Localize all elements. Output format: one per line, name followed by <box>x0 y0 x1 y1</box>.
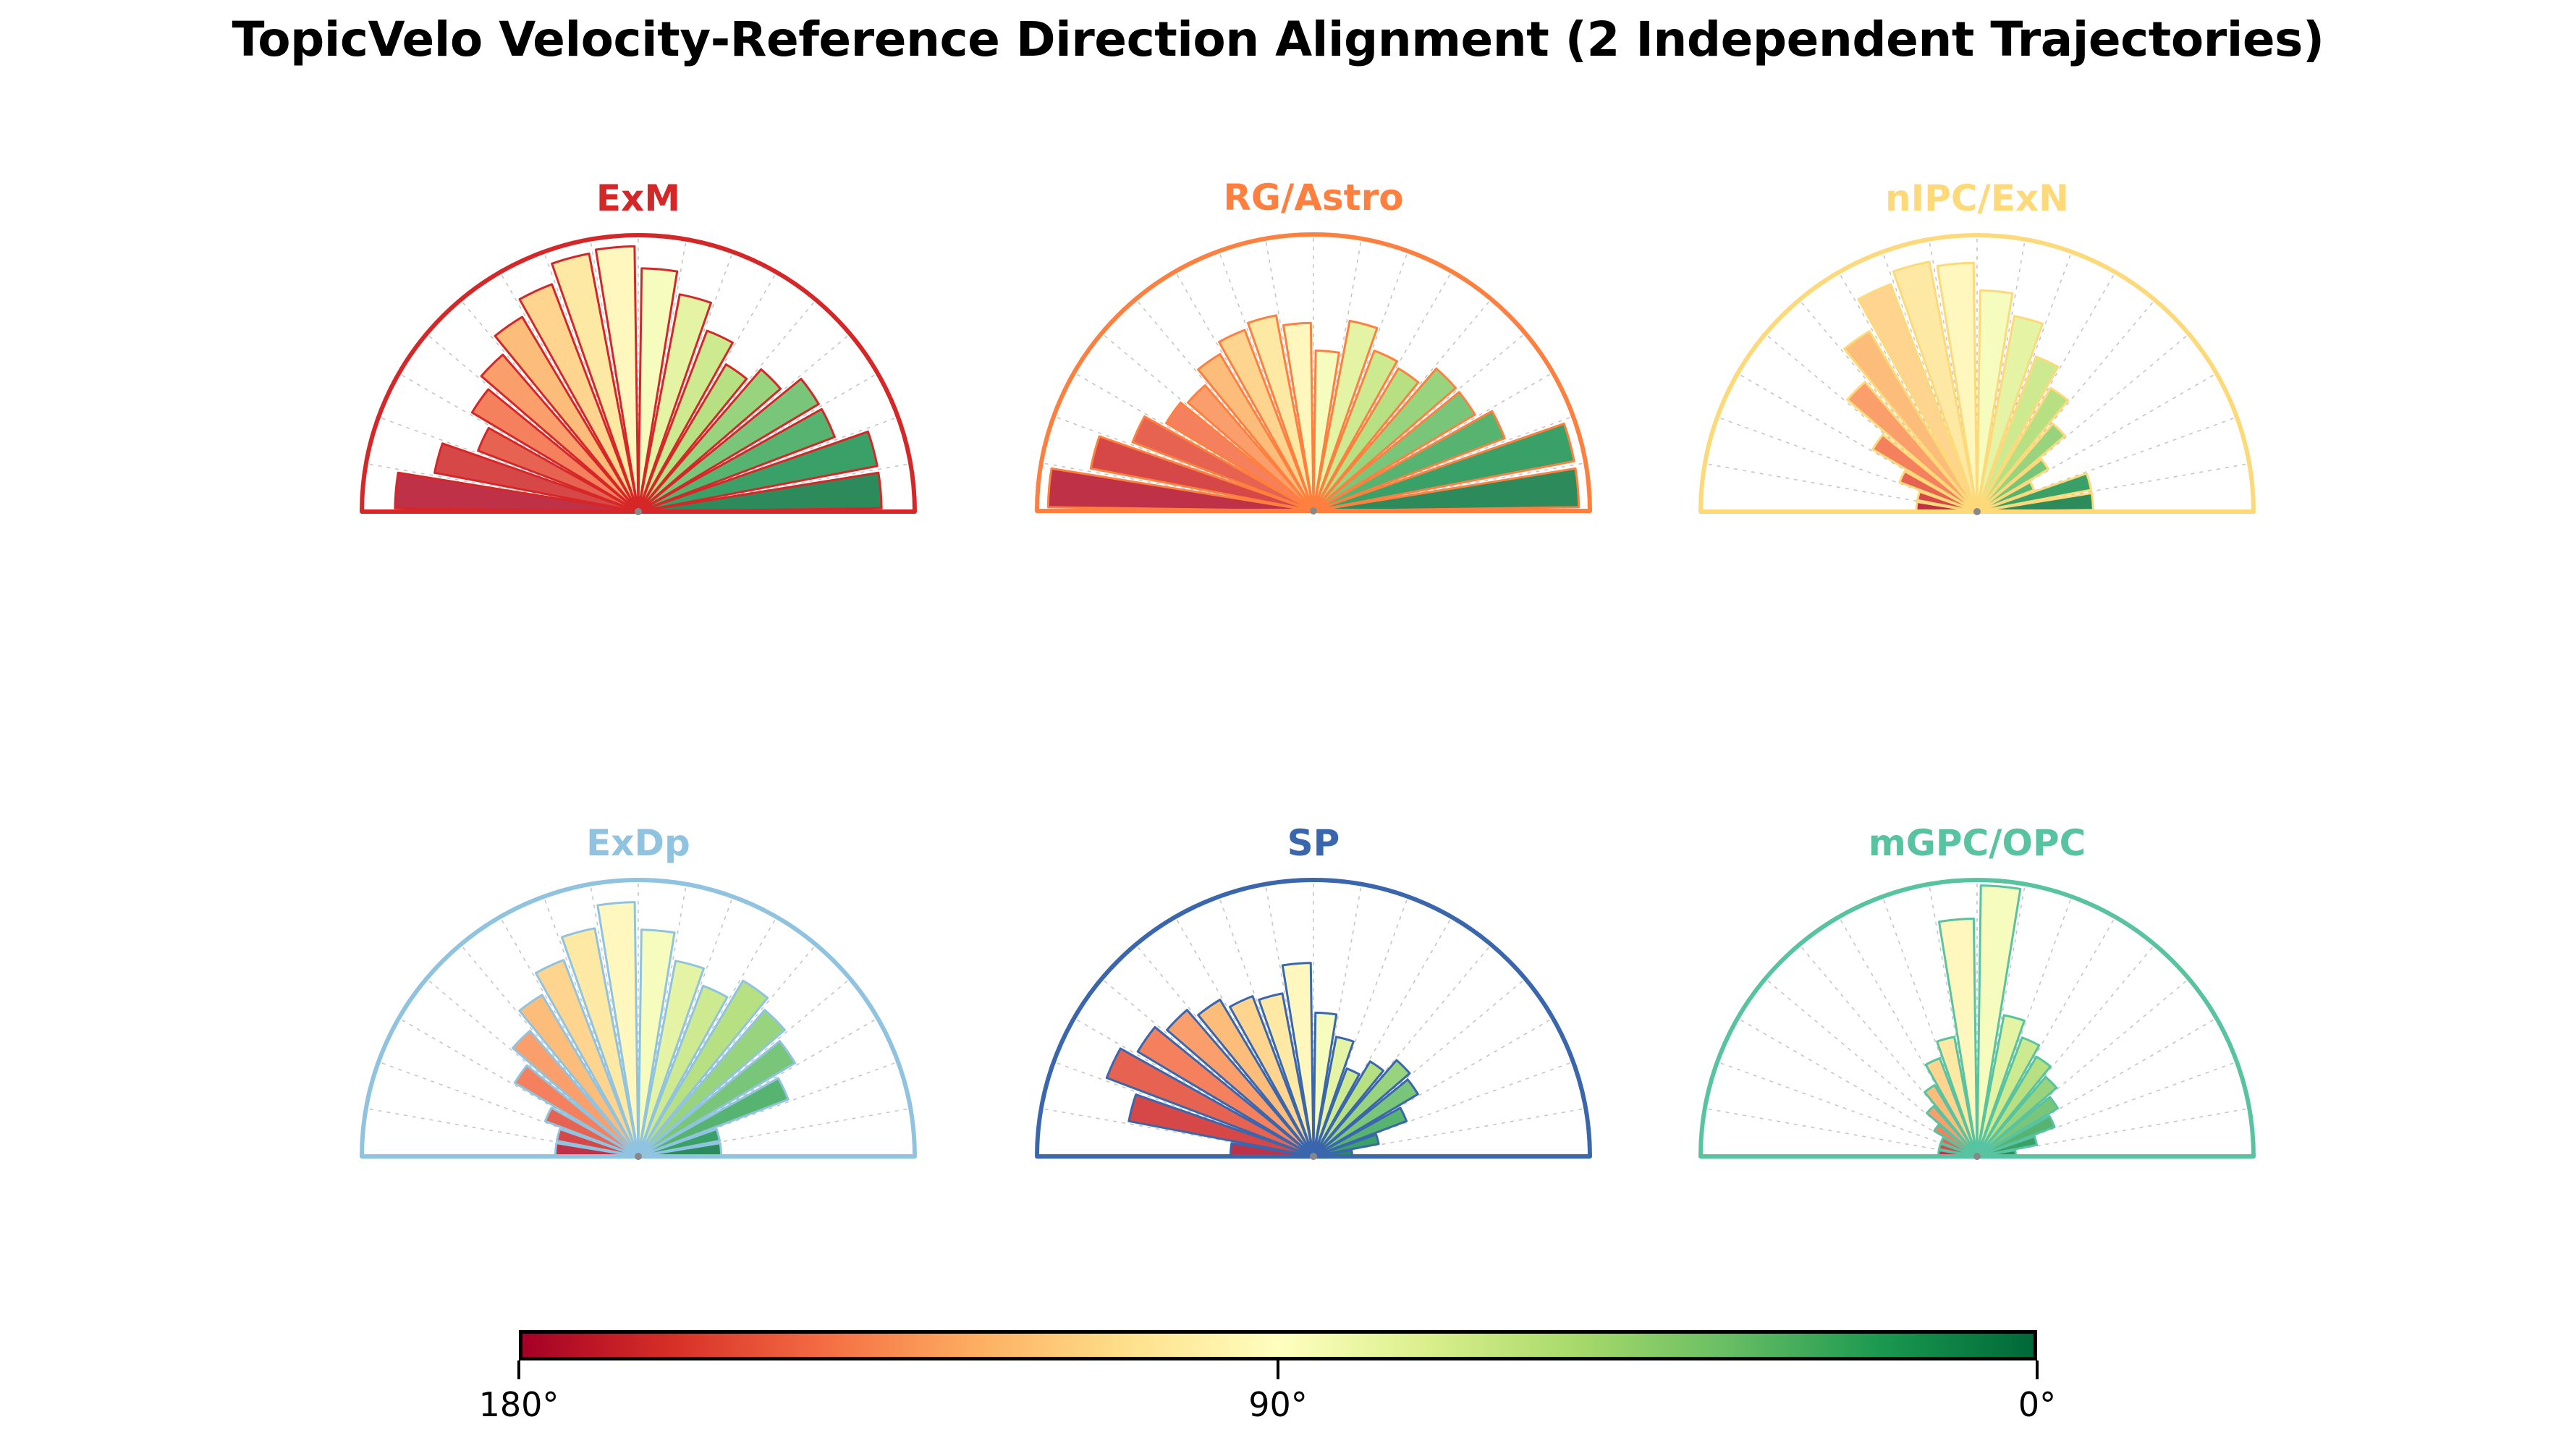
page-title: TopicVelo Velocity-Reference Direction A… <box>0 12 2556 67</box>
polar-origin-dot <box>635 1153 642 1160</box>
rose-svg <box>352 870 925 1167</box>
rose-plot <box>1027 224 1600 524</box>
colorbar-gradient <box>519 1330 2037 1360</box>
colorbar-tick-label: 180° <box>479 1385 559 1424</box>
figure-root: TopicVelo Velocity-Reference Direction A… <box>0 0 2556 1456</box>
panel-title-sp: SP <box>1027 822 1600 864</box>
rose-panel-exm: ExM <box>352 135 925 522</box>
rose-bars <box>513 902 795 1156</box>
rose-plot <box>1027 870 1600 1169</box>
rose-plot <box>1690 870 2264 1169</box>
panel-title-exm: ExM <box>352 177 925 219</box>
rose-bars <box>1106 963 1418 1156</box>
rose-svg <box>1027 224 1600 521</box>
panel-title-rg-astro: RG/Astro <box>1027 177 1600 219</box>
colorbar-tick-label: 0° <box>2018 1385 2056 1424</box>
rose-svg <box>1690 225 2264 522</box>
polar-origin-dot <box>1973 508 1981 515</box>
colorbar-tick <box>517 1360 520 1379</box>
panel-title-nipc-exn: nIPC/ExN <box>1690 177 2264 219</box>
rose-panel-sp: SP <box>1027 780 1600 1167</box>
colorbar-tick <box>2036 1360 2039 1379</box>
colorbar-tick <box>1277 1360 1279 1379</box>
colorbar-tick-label: 90° <box>1248 1385 1308 1424</box>
rose-panel-nipc-exn: nIPC/ExN <box>1690 135 2264 522</box>
panel-title-mgpc-opc: mGPC/OPC <box>1690 822 2264 864</box>
rose-plot <box>352 870 925 1169</box>
rose-panel-rg-astro: RG/Astro <box>1027 135 1600 521</box>
colorbar: 180°90°0° <box>519 1330 2037 1439</box>
rose-panel-exdp: ExDp <box>352 780 925 1167</box>
rose-panel-mgpc-opc: mGPC/OPC <box>1690 780 2264 1167</box>
polar-origin-dot <box>1310 1153 1317 1160</box>
polar-origin-dot <box>635 508 642 515</box>
rose-bars <box>1925 886 2058 1156</box>
panel-title-exdp: ExDp <box>352 822 925 864</box>
polar-origin-dot <box>1310 507 1317 515</box>
polar-origin-dot <box>1973 1153 1981 1160</box>
rose-svg <box>352 225 925 522</box>
rose-svg <box>1027 870 1600 1167</box>
rose-plot <box>352 225 925 525</box>
rose-plot <box>1690 225 2264 525</box>
rose-svg <box>1690 870 2264 1167</box>
rose-bars <box>1845 262 2094 512</box>
